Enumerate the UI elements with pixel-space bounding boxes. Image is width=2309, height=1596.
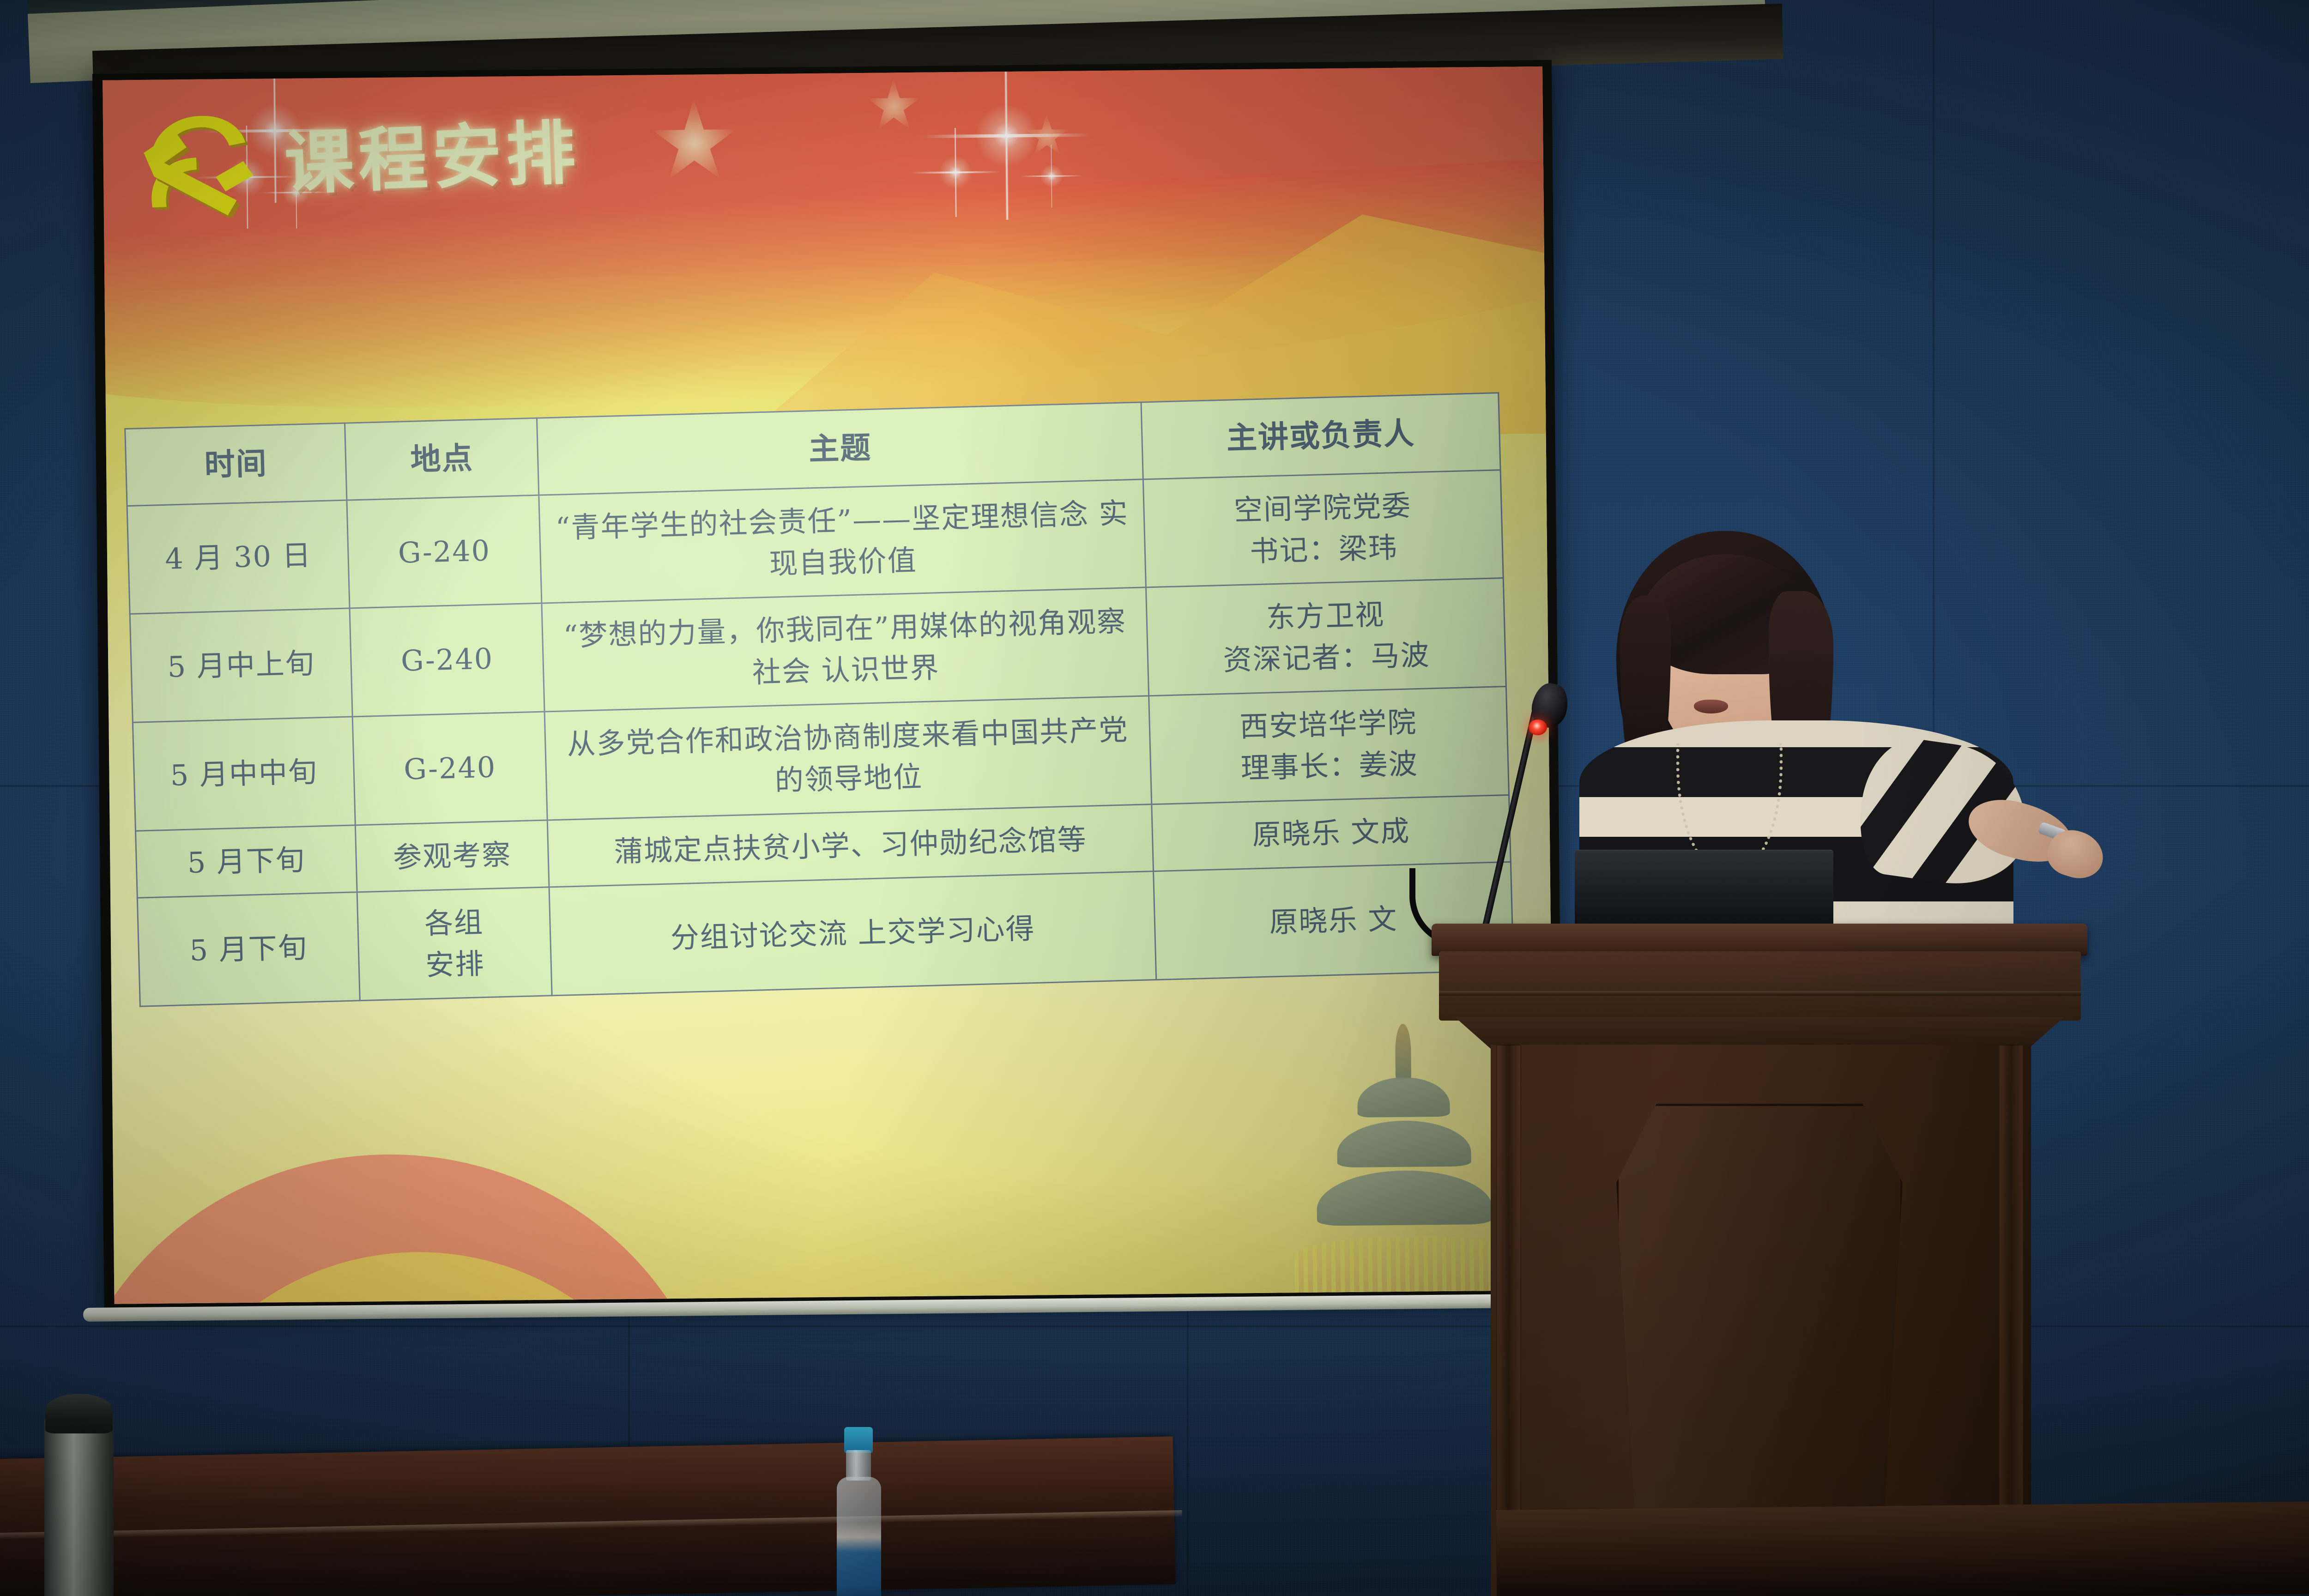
cell-time: 5 月中中旬: [133, 717, 355, 831]
stainless-steel-thermos[interactable]: [44, 1385, 114, 1596]
course-schedule-table: 时间 地点 主题 主讲或负责人 4 月 30 日 G-240 “青年学生的社会责…: [124, 392, 1514, 1007]
cell-topic: 从多党合作和政治协商制度来看中国共产党的领导地位: [544, 696, 1152, 820]
cell-place: 参观考察: [355, 820, 549, 892]
cell-topic: “梦想的力量，你我同在”用媒体的视角观察社会 认识世界: [542, 587, 1149, 712]
cell-place: G-240: [347, 495, 542, 609]
slide-title-row: 课程安排: [130, 89, 582, 221]
projection-screen-frame: 课程安排: [92, 60, 1564, 1316]
plastic-water-bottle[interactable]: [831, 1427, 887, 1596]
cell-place: 各组 安排: [357, 887, 552, 1001]
cell-time: 4 月 30 日: [127, 500, 350, 614]
sparkle-icon: [1040, 164, 1064, 188]
column-header-time: 时间: [125, 423, 347, 506]
cell-time: 5 月下旬: [135, 825, 357, 898]
schedule-table-wrapper: 时间 地点 主题 主讲或负责人 4 月 30 日 G-240 “青年学生的社会责…: [124, 392, 1514, 1007]
cell-place: G-240: [352, 712, 547, 825]
slide-title: 课程安排: [283, 97, 582, 208]
bottle-neck: [846, 1450, 871, 1481]
projection-screen-surface: 课程安排: [103, 66, 1554, 1304]
cpc-hammer-sickle-emblem: [130, 101, 268, 221]
microphone-led-indicator: [1529, 719, 1547, 735]
bottle-body: [837, 1477, 881, 1596]
laptop-on-podium[interactable]: [1575, 850, 1833, 928]
stage-table-right: [1496, 1500, 2309, 1596]
cell-time: 5 月中上旬: [130, 608, 352, 722]
thermos-body: [44, 1418, 114, 1596]
bottle-cap: [844, 1427, 873, 1453]
cell-topic: “青年学生的社会责任”——坚定理想信念 实现自我价值: [539, 479, 1146, 603]
mouth: [1694, 700, 1728, 713]
column-header-place: 地点: [345, 418, 539, 500]
column-header-speaker: 主讲或负责人: [1141, 393, 1500, 479]
cell-topic: 分组讨论交流 上交学习心得: [549, 871, 1156, 995]
column-header-topic: 主题: [537, 402, 1143, 495]
sparkle-icon: [938, 155, 973, 190]
sparkle-icon: [974, 103, 1039, 168]
cell-place: G-240: [350, 603, 544, 717]
cell-time: 5 月下旬: [137, 892, 360, 1006]
podium-cornice: [1439, 951, 2081, 1021]
thermos-cap: [45, 1394, 113, 1433]
projection-screen-assembly: 课程安排: [28, 0, 1635, 1358]
podium-and-speaker: [1422, 545, 2143, 1596]
lecture-hall-scene: 课程安排: [0, 0, 2309, 1596]
